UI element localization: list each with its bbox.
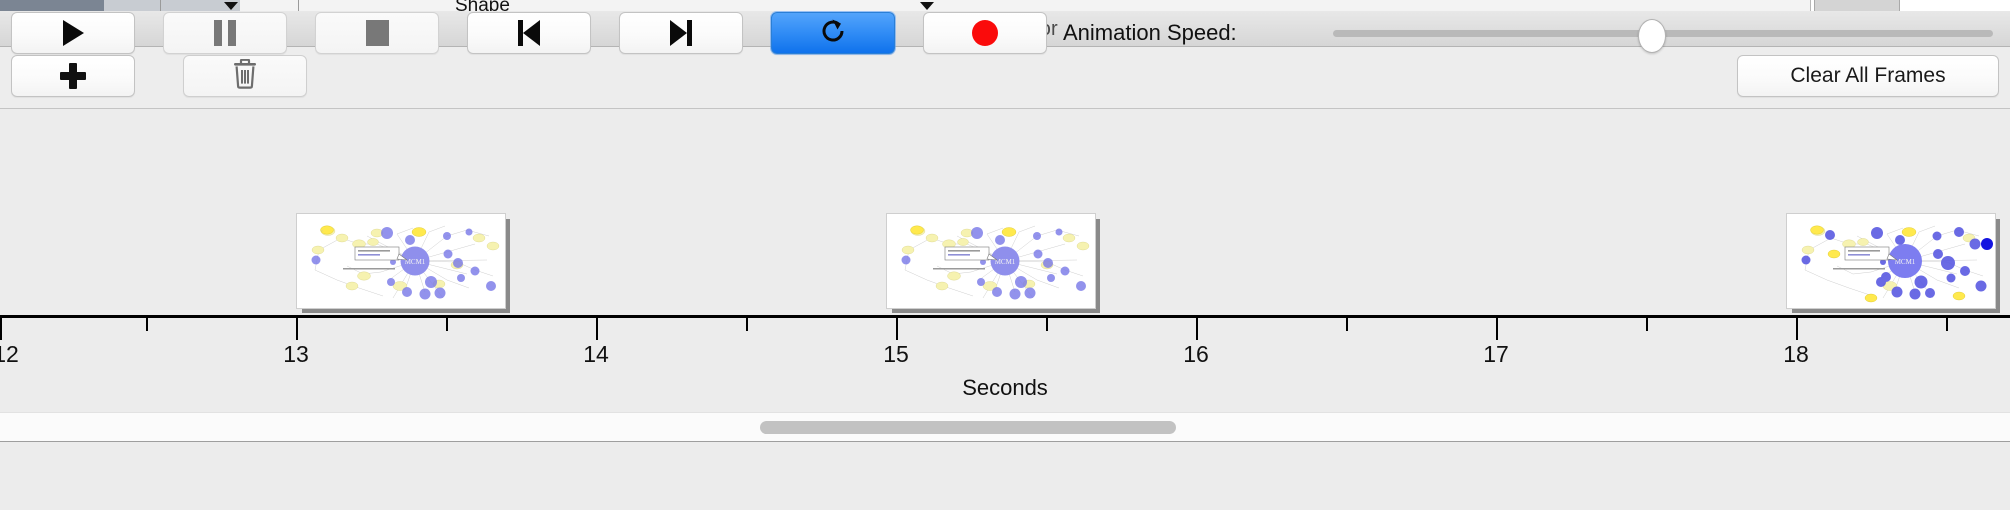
- cyanimator-window: Shape CyAnimator Clear All Frames: [0, 0, 2010, 510]
- background-cursor-arrow: [920, 2, 934, 10]
- axis-tick: [296, 318, 298, 340]
- axis-tick: [896, 318, 898, 340]
- axis-tick-label: 14: [583, 341, 609, 368]
- axis-tick: [746, 318, 748, 331]
- stop-icon: [366, 20, 389, 46]
- frame-thumbnail[interactable]: MCM1: [886, 213, 1096, 309]
- delete-frame-button[interactable]: [183, 55, 307, 97]
- clear-all-frames-button[interactable]: Clear All Frames: [1737, 55, 1999, 97]
- pause-icon: [214, 20, 236, 46]
- axis-tick: [1946, 318, 1948, 331]
- svg-text:MCM1: MCM1: [405, 258, 426, 266]
- pause-button[interactable]: [163, 12, 287, 54]
- trash-icon: [232, 59, 258, 94]
- animation-speed-label: Animation Speed:: [1063, 12, 1237, 54]
- axis-tick: [1796, 318, 1798, 340]
- plus-icon: [60, 63, 86, 89]
- svg-text:MCM1: MCM1: [995, 258, 1016, 266]
- axis-tick: [1196, 318, 1198, 340]
- skip-to-start-button[interactable]: [467, 12, 591, 54]
- background-cursor-arrow: [224, 2, 238, 10]
- axis-tick-label: 13: [283, 341, 309, 368]
- axis-tick: [146, 318, 148, 331]
- background-toolbar-dark: [0, 0, 104, 11]
- skip-to-end-button[interactable]: [619, 12, 743, 54]
- axis-line: [0, 315, 2010, 318]
- timeline-panel: MCM1 Y.. ..: [0, 109, 2010, 412]
- svg-text:MCM1: MCM1: [1895, 258, 1916, 266]
- axis-tick-label: 17: [1483, 341, 1509, 368]
- axis-tick: [1496, 318, 1498, 340]
- network-graph-preview: MCM1 Y.. ..: [297, 214, 505, 308]
- play-icon: [63, 20, 84, 46]
- loop-icon: [818, 16, 848, 51]
- background-toolbar-gray: [104, 0, 240, 11]
- skip-back-icon: [518, 20, 540, 46]
- axis-title: Seconds: [0, 375, 2010, 401]
- play-button[interactable]: [11, 12, 135, 54]
- playback-control-bar: [0, 443, 2010, 510]
- network-graph-preview: MCM1: [887, 214, 1095, 308]
- stop-button[interactable]: [315, 12, 439, 54]
- frame-thumbnail[interactable]: MCM1 Y.. ..: [296, 213, 506, 309]
- timeline-axis[interactable]: 12 13 14 15 16 17 18 Seconds: [0, 313, 2010, 412]
- svg-text:Y..: Y..: [321, 229, 324, 233]
- axis-tick: [1646, 318, 1648, 331]
- axis-tick-label: 16: [1183, 341, 1209, 368]
- skip-forward-icon: [670, 20, 692, 46]
- axis-tick-label: 15: [883, 341, 909, 368]
- frames-area: MCM1 Y.. ..: [0, 109, 2010, 313]
- axis-tick-label: 18: [1783, 341, 1809, 368]
- add-frame-button[interactable]: [11, 55, 135, 97]
- record-icon: [972, 20, 998, 46]
- scrollbar-thumb[interactable]: [760, 421, 1176, 434]
- axis-tick: [0, 318, 2, 340]
- frame-thumbnail[interactable]: MCM1: [1786, 213, 1996, 309]
- timeline-scrollbar[interactable]: [0, 412, 2010, 442]
- axis-tick: [446, 318, 448, 331]
- axis-tick-label: 12: [0, 341, 19, 368]
- axis-tick: [596, 318, 598, 340]
- slider-thumb[interactable]: [1638, 19, 1666, 53]
- record-button[interactable]: [923, 12, 1047, 54]
- animation-speed-slider[interactable]: [1333, 12, 1993, 54]
- loop-button[interactable]: [771, 12, 895, 54]
- network-graph-preview: MCM1: [1787, 214, 1995, 308]
- axis-tick: [1346, 318, 1348, 331]
- axis-tick: [1046, 318, 1048, 331]
